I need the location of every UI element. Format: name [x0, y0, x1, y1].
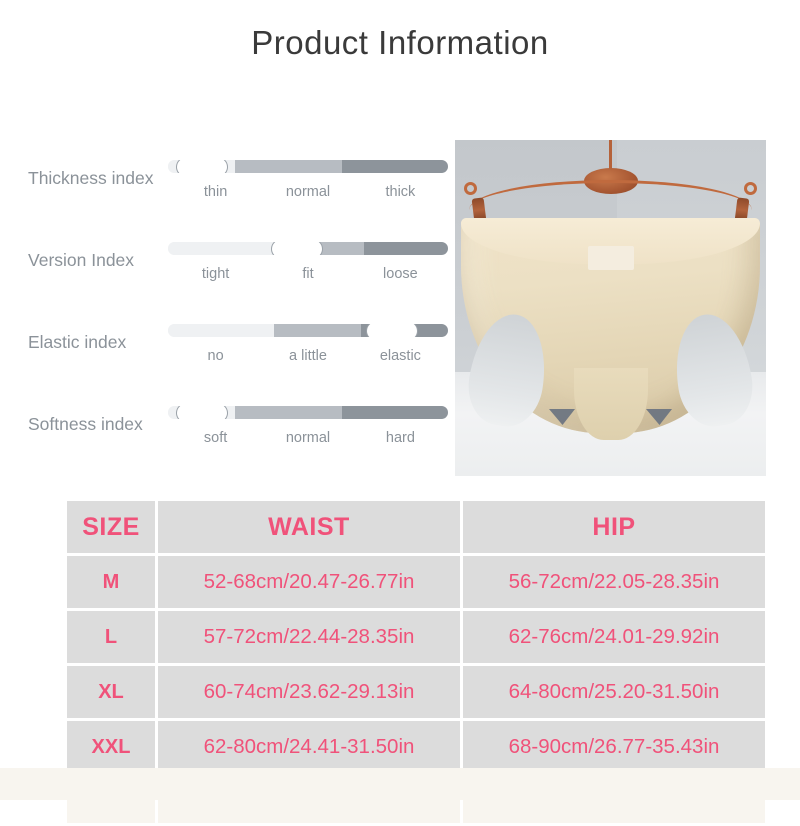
slider-thumb[interactable]	[176, 160, 228, 173]
slider-track[interactable]	[168, 406, 448, 419]
table-row: XL60-74cm/23.62-29.13in64-80cm/25.20-31.…	[67, 666, 765, 718]
index-row: Elastic indexnoa littleelastic	[28, 324, 448, 406]
index-label: Elastic index	[28, 332, 160, 353]
slider-segment	[342, 160, 448, 173]
slider-tick-label: normal	[286, 184, 330, 200]
index-slider[interactable]: noa littleelastic	[168, 324, 448, 368]
slider-thumb[interactable]	[176, 406, 228, 419]
table-cell-hip: 62-76cm/24.01-29.92in	[463, 611, 765, 663]
table-header-cell: HIP	[463, 501, 765, 553]
slider-thumb[interactable]	[271, 242, 323, 255]
garment-gusset	[574, 368, 648, 440]
slider-tick-label: elastic	[380, 348, 421, 364]
garment-care-label	[588, 246, 634, 270]
table-cell-hip: 64-80cm/25.20-31.50in	[463, 666, 765, 718]
index-label: Softness index	[28, 414, 160, 435]
index-slider[interactable]: softnormalhard	[168, 406, 448, 450]
slider-tick-label: thick	[385, 184, 415, 200]
index-row: Thickness indexthinnormalthick	[28, 160, 448, 242]
hanger-hook-left-icon	[464, 182, 477, 195]
slider-segment	[235, 160, 341, 173]
slider-tick-labels: softnormalhard	[168, 430, 448, 450]
index-label: Version Index	[28, 250, 160, 271]
slider-thumb[interactable]	[366, 324, 418, 337]
product-index-panel: Thickness indexthinnormalthickVersion In…	[28, 160, 448, 488]
index-slider[interactable]: tightfitloose	[168, 242, 448, 286]
page-bottom-band	[0, 768, 800, 800]
slider-tick-label: tight	[202, 266, 229, 282]
garment-gusset-tip-left	[549, 409, 575, 425]
table-row: M52-68cm/20.47-26.77in56-72cm/22.05-28.3…	[67, 556, 765, 608]
slider-segment	[168, 324, 274, 337]
slider-track[interactable]	[168, 242, 448, 255]
slider-segment	[274, 324, 361, 337]
slider-tick-label: hard	[386, 430, 415, 446]
slider-tick-label: soft	[204, 430, 227, 446]
table-cell-waist: 60-74cm/23.62-29.13in	[158, 666, 460, 718]
table-cell-waist: 52-68cm/20.47-26.77in	[158, 556, 460, 608]
index-row: Version Indextightfitloose	[28, 242, 448, 324]
slider-tick-label: thin	[204, 184, 227, 200]
garment-body	[461, 218, 760, 433]
slider-track[interactable]	[168, 160, 448, 173]
table-header-cell: WAIST	[158, 501, 460, 553]
hanger-hook-right-icon	[744, 182, 757, 195]
table-row: XXL62-80cm/24.41-31.50in68-90cm/26.77-35…	[67, 721, 765, 773]
slider-tick-label: fit	[302, 266, 313, 282]
slider-segment	[342, 406, 448, 419]
slider-tick-label: a little	[289, 348, 327, 364]
table-cell-waist: 62-80cm/24.41-31.50in	[158, 721, 460, 773]
table-cell-size: M	[67, 556, 155, 608]
slider-tick-label: normal	[286, 430, 330, 446]
table-cell-size: XXL	[67, 721, 155, 773]
garment-leg-opening-left	[463, 309, 554, 431]
garment-gusset-tip-right	[646, 409, 672, 425]
table-header-cell: SIZE	[67, 501, 155, 553]
index-label: Thickness index	[28, 168, 160, 189]
table-cell-hip: 68-90cm/26.77-35.43in	[463, 721, 765, 773]
table-cell-size: XL	[67, 666, 155, 718]
slider-tick-label: loose	[383, 266, 418, 282]
index-row: Softness indexsoftnormalhard	[28, 406, 448, 488]
slider-tick-labels: tightfitloose	[168, 266, 448, 286]
table-cell-hip: 56-72cm/22.05-28.35in	[463, 556, 765, 608]
slider-tick-labels: noa littleelastic	[168, 348, 448, 368]
product-photo[interactable]	[455, 140, 766, 476]
table-cell-size: L	[67, 611, 155, 663]
slider-tick-labels: thinnormalthick	[168, 184, 448, 204]
slider-track[interactable]	[168, 324, 448, 337]
table-row: L57-72cm/22.44-28.35in62-76cm/24.01-29.9…	[67, 611, 765, 663]
slider-segment	[364, 242, 448, 255]
table-header-row: SIZEWAISTHIP	[67, 501, 765, 553]
table-cell-waist: 57-72cm/22.44-28.35in	[158, 611, 460, 663]
slider-segment	[235, 406, 341, 419]
slider-tick-label: no	[208, 348, 224, 364]
page-title: Product Information	[0, 24, 800, 62]
index-slider[interactable]: thinnormalthick	[168, 160, 448, 204]
